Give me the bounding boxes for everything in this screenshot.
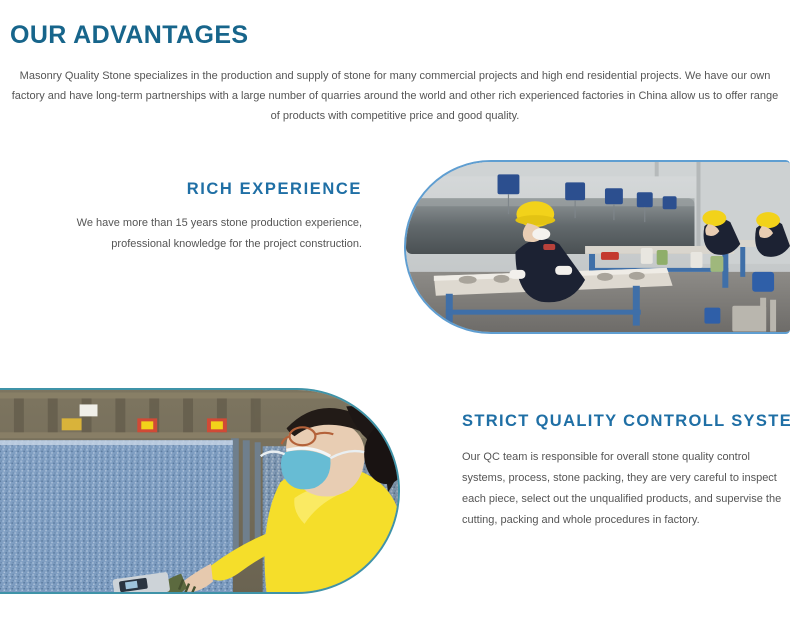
block-rich-experience: RICH EXPERIENCE We have more than 15 yea… [18,180,362,255]
page-title: OUR ADVANTAGES [10,22,248,50]
photo-inspection-image [0,390,398,592]
intro-paragraph: Masonry Quality Stone specializes in the… [8,66,782,126]
rich-experience-heading: RICH EXPERIENCE [18,180,362,200]
strict-quality-heading: STRICT QUALITY CONTROLL SYSTEM [462,412,782,432]
our-advantages-section: OUR ADVANTAGES Masonry Quality Stone spe… [0,0,790,625]
rich-experience-body: We have more than 15 years stone product… [18,213,362,255]
photo-inspection [0,388,400,594]
photo-factory-image [406,162,790,332]
block-strict-quality-controll-system: STRICT QUALITY CONTROLL SYSTEM Our QC te… [462,412,782,531]
strict-quality-body: Our QC team is responsible for overall s… [462,447,782,531]
photo-factory [404,160,790,334]
